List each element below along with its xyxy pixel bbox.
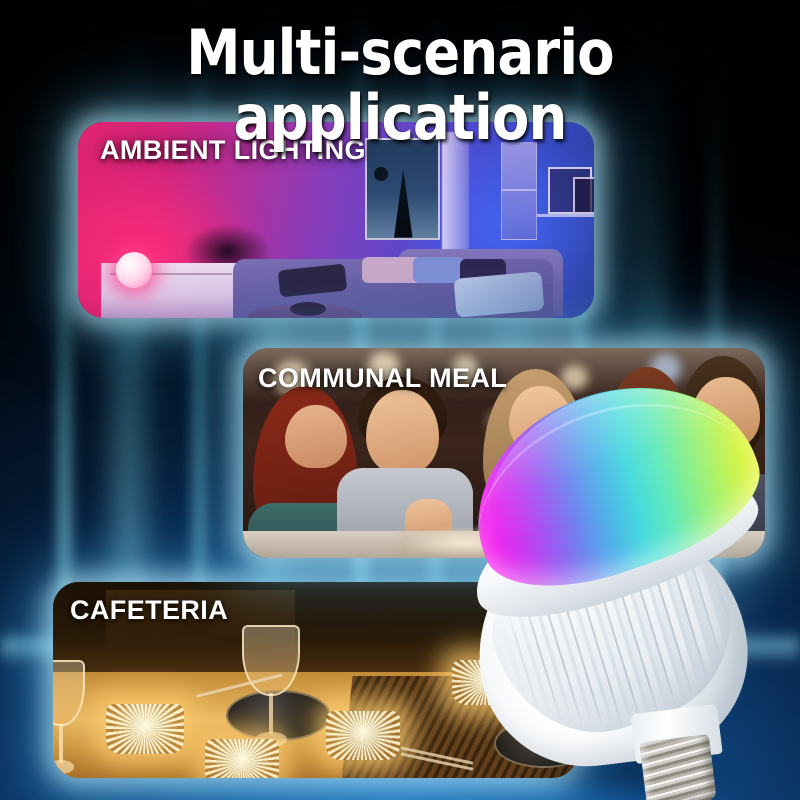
product-promo-image: AMBIENT LIGHTING CAFETERIA xyxy=(0,0,800,800)
scene-label-cafeteria: CAFETERIA xyxy=(70,595,228,626)
page-title: Multi-scenario application xyxy=(48,20,752,150)
rgb-led-bulb-product xyxy=(465,385,800,800)
